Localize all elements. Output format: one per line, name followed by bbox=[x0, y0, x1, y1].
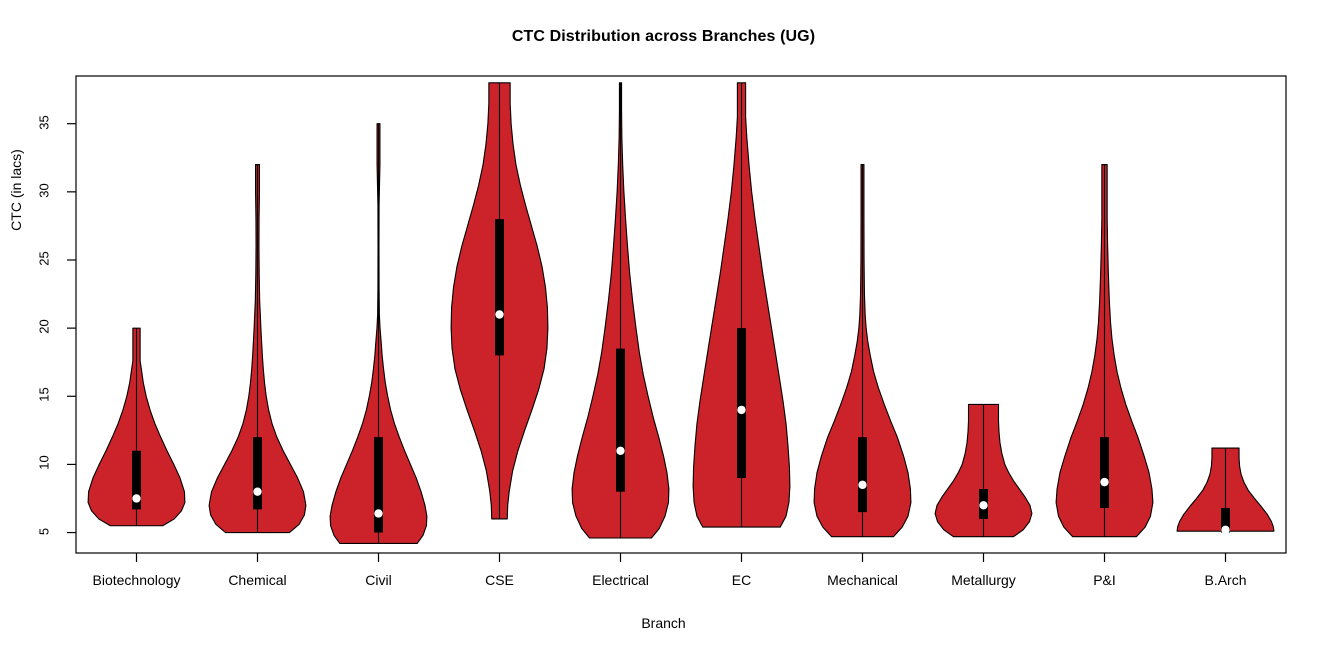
y-tick-label: 30 bbox=[37, 170, 52, 210]
plot-area bbox=[0, 0, 1327, 653]
y-tick-label: 15 bbox=[37, 375, 52, 415]
y-tick-label: 35 bbox=[37, 102, 52, 142]
x-tick-label: EC bbox=[732, 572, 751, 588]
x-tick-label: Civil bbox=[365, 572, 391, 588]
x-tick-label: B.Arch bbox=[1204, 572, 1246, 588]
median-point bbox=[374, 509, 382, 517]
x-tick-label: Electrical bbox=[592, 572, 649, 588]
x-tick-label: P&I bbox=[1093, 572, 1116, 588]
x-tick-label: CSE bbox=[485, 572, 514, 588]
x-tick-label: Metallurgy bbox=[951, 572, 1016, 588]
y-tick-label: 20 bbox=[37, 307, 52, 347]
median-point bbox=[616, 447, 624, 455]
violin-chart: CTC Distribution across Branches (UG) CT… bbox=[0, 0, 1327, 653]
median-point bbox=[1100, 478, 1108, 486]
median-point bbox=[979, 501, 987, 509]
median-point bbox=[1221, 526, 1229, 534]
median-point bbox=[495, 310, 503, 318]
median-point bbox=[737, 406, 745, 414]
median-point bbox=[253, 487, 261, 495]
y-tick-label: 5 bbox=[37, 511, 52, 551]
median-point bbox=[132, 494, 140, 502]
y-tick-label: 10 bbox=[37, 443, 52, 483]
x-tick-label: Mechanical bbox=[827, 572, 898, 588]
x-tick-label: Biotechnology bbox=[93, 572, 181, 588]
median-point bbox=[858, 481, 866, 489]
y-tick-label: 25 bbox=[37, 238, 52, 278]
x-tick-label: Chemical bbox=[228, 572, 286, 588]
